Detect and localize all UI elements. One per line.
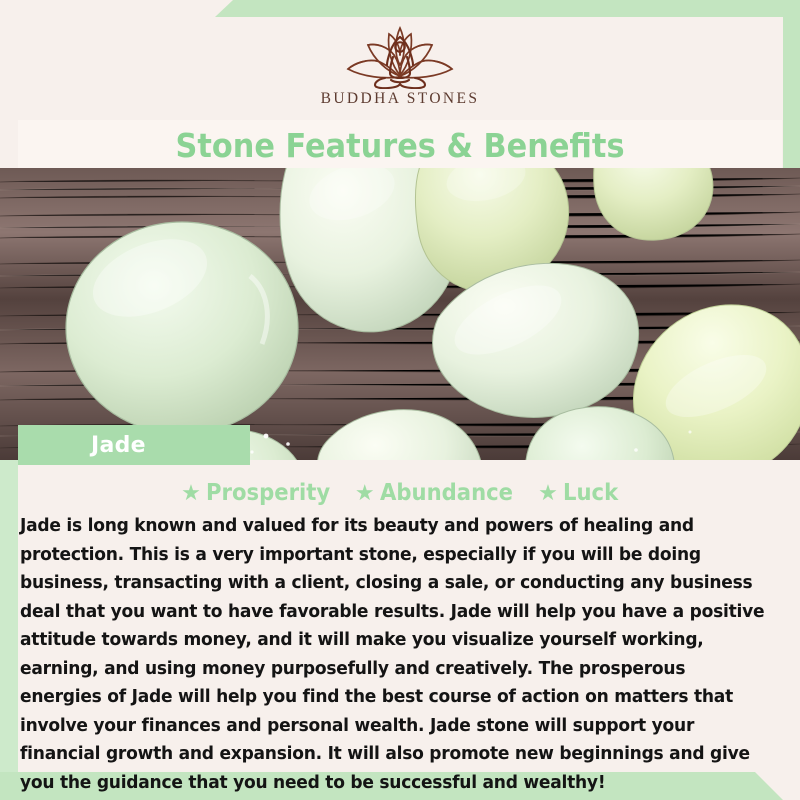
content-panel: ★ Prosperity ★ Abundance ★ Luck Jade is … xyxy=(18,465,786,772)
stone-name-tag: Jade xyxy=(18,425,250,465)
benefit-item: ★ Luck xyxy=(538,480,623,506)
benefit-item: ★ Abundance xyxy=(355,480,524,506)
star-icon: ★ xyxy=(181,482,201,504)
star-icon: ★ xyxy=(355,482,375,504)
stone-description: Jade is long known and valued for its be… xyxy=(20,512,765,797)
benefit-label-prosperity: Prosperity xyxy=(206,480,330,506)
brand-wordmark: BUDDHA STONES xyxy=(321,90,480,108)
decor-left-strip-lower xyxy=(0,455,18,780)
title-banner: Stone Features & Benefits xyxy=(18,120,782,170)
page-title: Stone Features & Benefits xyxy=(175,126,624,165)
benefits-row: ★ Prosperity ★ Abundance ★ Luck xyxy=(18,465,786,508)
benefit-label-luck: Luck xyxy=(563,480,618,506)
benefit-item: ★ Prosperity xyxy=(181,480,341,506)
stone-photo xyxy=(0,168,800,460)
star-icon: ★ xyxy=(538,482,558,504)
decor-top-right-band xyxy=(215,0,800,17)
infographic-card: BUDDHA STONES Stone Features & Benefits xyxy=(0,0,800,800)
lotus-meditation-icon xyxy=(325,17,475,89)
jade-stones-image xyxy=(0,168,800,460)
decor-bottom-left-fill xyxy=(0,772,18,800)
benefit-label-abundance: Abundance xyxy=(380,480,513,506)
brand-header: BUDDHA STONES xyxy=(0,17,800,120)
stone-name-label: Jade xyxy=(91,433,146,458)
